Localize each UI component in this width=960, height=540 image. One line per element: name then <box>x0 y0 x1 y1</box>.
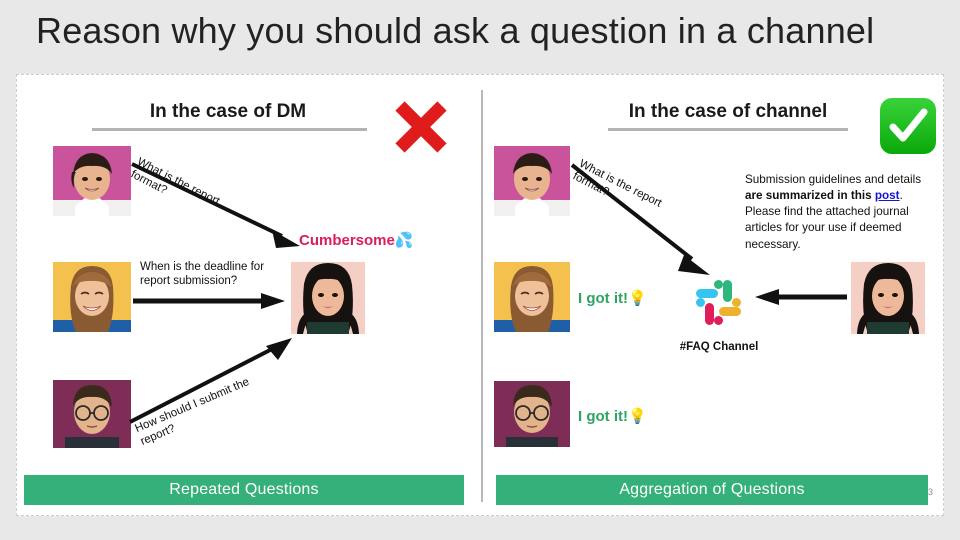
slack-logo-icon <box>688 272 750 334</box>
page-title: Reason why you should ask a question in … <box>36 10 936 52</box>
ack-label-2: I got it! <box>578 408 628 425</box>
sweat-drops-icon: 💦 <box>395 232 414 249</box>
avatar-photo-woman-yellow <box>53 262 131 332</box>
post-link[interactable]: post <box>875 189 900 202</box>
avatar-photo-recipient-dm <box>291 262 365 334</box>
panel-divider <box>481 90 483 502</box>
left-banner: Repeated Questions <box>24 475 464 505</box>
left-message-2-text: When is the deadline for report submissi… <box>140 260 288 289</box>
lightbulb-icon-1: 💡 <box>628 290 647 307</box>
arrow-right-msg <box>570 163 720 283</box>
ack-text-2: I got it!💡 <box>578 407 647 425</box>
left-panel-heading: In the case of DM <box>128 101 328 123</box>
arrow-left-msg-3 <box>128 330 296 425</box>
right-banner: Aggregation of Questions <box>496 475 928 505</box>
avatar-photo-man-pink-right <box>494 146 570 216</box>
cumbersome-label: Cumbersome <box>299 232 395 249</box>
red-cross-mark-icon <box>392 98 450 156</box>
right-panel-heading: In the case of channel <box>600 101 856 123</box>
avatar-photo-man-glasses <box>53 380 131 448</box>
faq-channel-label: #FAQ Channel <box>648 341 790 353</box>
answer-bold-1: are summarized in this <box>745 189 875 202</box>
avatar-photo-man-glasses-right <box>494 381 570 447</box>
ack-text-1: I got it!💡 <box>578 289 647 307</box>
page-number: 3 <box>928 487 933 497</box>
avatar-photo-man-pink <box>53 146 131 216</box>
slide-root: Reason why you should ask a question in … <box>0 0 960 540</box>
arrow-left-msg-1 <box>130 160 305 255</box>
green-check-mark-icon <box>878 96 938 156</box>
channel-answer-text: Submission guidelines and details are su… <box>745 172 941 253</box>
left-heading-rule <box>92 128 367 131</box>
arrow-left-msg-2 <box>133 293 288 309</box>
ack-label-1: I got it! <box>578 290 628 307</box>
arrow-right-to-channel <box>755 289 847 305</box>
answer-part-1: Submission guidelines and details <box>745 173 921 186</box>
lightbulb-icon-2: 💡 <box>628 408 647 425</box>
cumbersome-reaction: Cumbersome💦 <box>299 231 414 249</box>
avatar-photo-recipient-channel <box>851 262 925 334</box>
avatar-photo-woman-yellow-right <box>494 262 570 332</box>
right-heading-rule <box>608 128 848 131</box>
